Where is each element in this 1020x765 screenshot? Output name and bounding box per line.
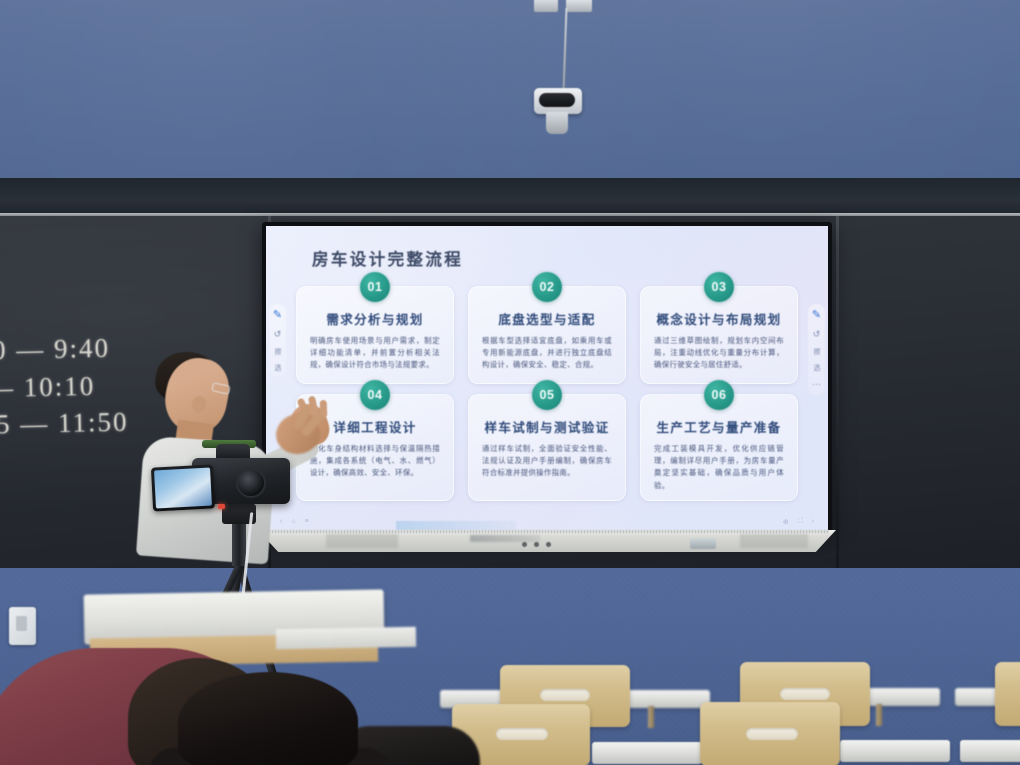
step-badge: 06 [704, 380, 734, 410]
process-card[interactable]: 06 生产工艺与量产准备 完成工装模具开发，优化供应链管理，编制详尽用户手册，为… [640, 394, 798, 501]
chair-handle-slot [746, 728, 798, 740]
chalk-line-2: — 10:10 [0, 371, 96, 404]
desk-surface [960, 740, 1020, 762]
next-icon[interactable]: › [812, 518, 814, 526]
blackboard-seam-right [836, 216, 839, 568]
annotation-toolbar-right[interactable]: ✎ ↺ 擦 选 ⋯ [808, 304, 825, 395]
audience-member-head [178, 672, 358, 765]
slide-footer-controls: ‹ ⌂ ≡ ⊕ ⛶ › [266, 518, 828, 526]
display-screen[interactable]: 房车设计完整流程 01 需求分析与规划 明确房车使用场景与用户需求，制定详细功能… [266, 226, 828, 530]
taskbar-strip[interactable] [396, 521, 516, 530]
step-badge: 05 [532, 380, 562, 410]
pen-icon[interactable]: ✎ [273, 310, 282, 321]
eraser-icon[interactable]: 擦 [813, 348, 820, 355]
card-title: 概念设计与布局规划 [651, 309, 787, 328]
desk-leg [648, 706, 654, 728]
process-card[interactable]: 03 概念设计与布局规划 通过三维草图绘制，规划车内空间布局，注重动线优化与重量… [640, 286, 798, 384]
ceiling-mount-left [534, 0, 558, 12]
card-body: 根据车型选择适宜底盘，如乘用车或专用新能源底盘，并进行独立底盘结构设计，确保安全… [479, 335, 615, 372]
process-card-grid: 01 需求分析与规划 明确房车使用场景与用户需求，制定详细功能清单，并前置分析相… [296, 286, 798, 501]
card-body: 通过样车试制，全面验证安全性能、法规认证及用户手册编制，确保房车符合标准并提供操… [479, 443, 615, 480]
usb-port[interactable] [690, 538, 716, 549]
wall-switch[interactable] [9, 607, 36, 645]
select-icon[interactable]: 选 [813, 364, 820, 371]
step-badge: 03 [704, 272, 734, 302]
chair-back [995, 662, 1020, 726]
undo-icon[interactable]: ↺ [813, 330, 821, 339]
desk-surface [592, 742, 702, 764]
pointing-hand [276, 400, 332, 460]
recording-led [218, 504, 225, 509]
power-button[interactable] [522, 542, 527, 547]
desk-surface [840, 740, 950, 762]
card-title: 需求分析与规划 [307, 309, 443, 328]
speaker-grill [266, 530, 828, 533]
chair [700, 702, 840, 765]
undo-icon[interactable]: ↺ [274, 330, 282, 339]
chair-handle-slot [540, 689, 590, 701]
shelf-pad-left [326, 534, 398, 548]
page-title: 房车设计完整流程 [312, 246, 798, 270]
interactive-display[interactable]: 房车设计完整流程 01 需求分析与规划 明确房车使用场景与用户需求，制定详细功能… [262, 222, 832, 534]
step-badge: 02 [532, 272, 562, 302]
chalk-line-1: 0 — 9:40 [0, 333, 110, 366]
card-title: 样车试制与测试验证 [479, 417, 615, 436]
chair-handle-slot [496, 728, 548, 740]
front-desk-surface [276, 627, 416, 649]
camera-flip-screen[interactable] [151, 464, 215, 511]
camera-lens-icon [236, 468, 266, 498]
fullscreen-icon[interactable]: ⛶ [798, 518, 803, 526]
card-body: 通过三维草图绘制，规划车内空间布局，注重动线优化与重量分布计算，确保行驶安全与居… [651, 335, 787, 372]
card-body: 完成工装模具开发，优化供应链管理，编制详尽用户手册，为房车量产奠定坚实基础，确保… [651, 443, 787, 492]
chair [995, 662, 1020, 726]
process-card[interactable]: 02 底盘选型与适配 根据车型选择适宜底盘，如乘用车或专用新能源底盘，并进行独立… [468, 286, 626, 384]
card-title: 底盘选型与适配 [479, 309, 615, 328]
upper-wall [0, 0, 1020, 182]
more-icon[interactable]: ⋯ [812, 380, 821, 389]
step-badge: 01 [360, 272, 390, 302]
process-card[interactable]: 05 样车试制与测试验证 通过样车试制，全面验证安全性能、法规认证及用户手册编制… [468, 394, 626, 501]
presentation-slide: 房车设计完整流程 01 需求分析与规划 明确房车使用场景与用户需求，制定详细功能… [266, 226, 828, 530]
pen-icon[interactable]: ✎ [812, 310, 821, 321]
source-button[interactable] [546, 542, 551, 547]
ceiling-mount-right [566, 0, 592, 12]
lecture-hall-scene: 0 — 9:40 — 10:10 5 — 11:50 房车设计完整流程 [0, 0, 1020, 765]
chair-handle-slot [780, 688, 830, 700]
menu-button[interactable] [534, 542, 539, 547]
brand-label [470, 535, 540, 542]
card-title: 生产工艺与量产准备 [651, 417, 787, 436]
chalk-line-3: 5 — 11:50 [0, 407, 129, 441]
step-badge: 04 [360, 380, 390, 410]
shelf-pad-right [740, 534, 808, 548]
desk-leg [876, 704, 882, 726]
ceiling-camera-stem [546, 112, 568, 134]
footer-right-controls[interactable]: ⊕ ⛶ › [783, 518, 814, 526]
ceiling-camera-lens [539, 93, 575, 107]
zoom-icon[interactable]: ⊕ [783, 518, 789, 526]
tripod-column [232, 522, 246, 566]
